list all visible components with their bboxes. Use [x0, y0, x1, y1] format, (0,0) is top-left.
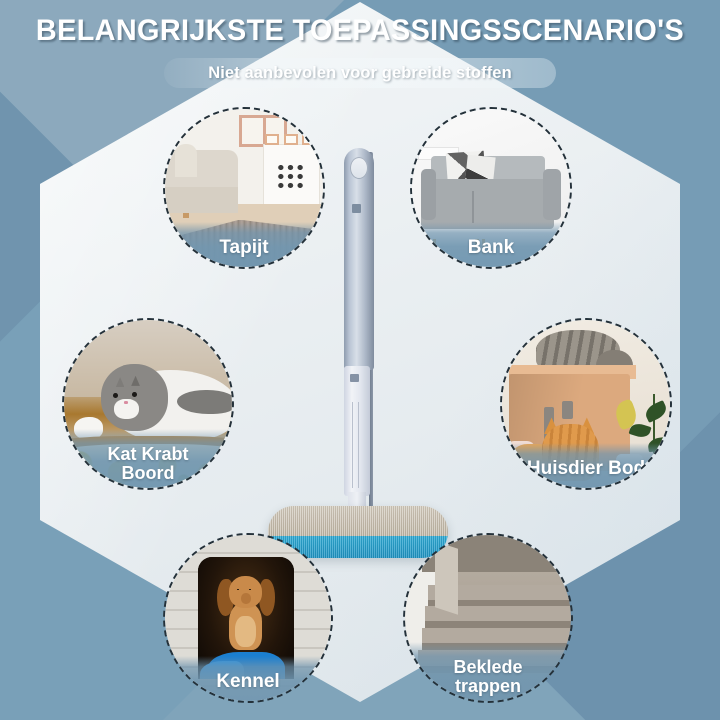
scenario-circle-tapijt[interactable]: Tapijt: [163, 107, 325, 269]
scenario-circle-kennel[interactable]: Kennel: [163, 533, 333, 703]
brush-pad-top-surface: [268, 506, 448, 536]
scenario-circle-kat-krabt-boord[interactable]: Kat Krabt Boord: [62, 318, 234, 490]
scenario-label-bank: Bank: [412, 222, 570, 267]
scenario-label-tapijt: Tapijt: [165, 222, 323, 267]
handle-upper-grip: [344, 148, 374, 370]
subtitle-pill: Niet aanbevolen voor gebreide stoffen: [164, 58, 556, 88]
handle-badge-upper: [352, 204, 361, 213]
scenario-label-kennel: Kennel: [165, 656, 331, 701]
scenario-label-kat-krabt-boord: Kat Krabt Boord: [64, 429, 232, 488]
promo-graphic: BELANGRIJKSTE TOEPASSINGSSCENARIO'S Niet…: [0, 0, 720, 720]
handle-seam-lines: [350, 402, 364, 488]
handle-badge-lower: [350, 374, 359, 382]
product-brush: [330, 148, 390, 548]
hanging-hole-icon: [350, 157, 368, 179]
scenario-circle-bank[interactable]: Bank: [410, 107, 572, 269]
scenario-label-beklede-trappen: Beklede trappen: [405, 642, 571, 701]
scenario-label-huisdier-bod: Huisdier Bod: [502, 443, 670, 488]
subtitle-text: Niet aanbevolen voor gebreide stoffen: [208, 64, 512, 83]
scenario-circle-huisdier-bod[interactable]: Huisdier Bod: [500, 318, 672, 490]
page-title: BELANGRIJKSTE TOEPASSINGSSCENARIO'S: [14, 14, 705, 48]
scenario-circle-beklede-trappen[interactable]: Beklede trappen: [403, 533, 573, 703]
